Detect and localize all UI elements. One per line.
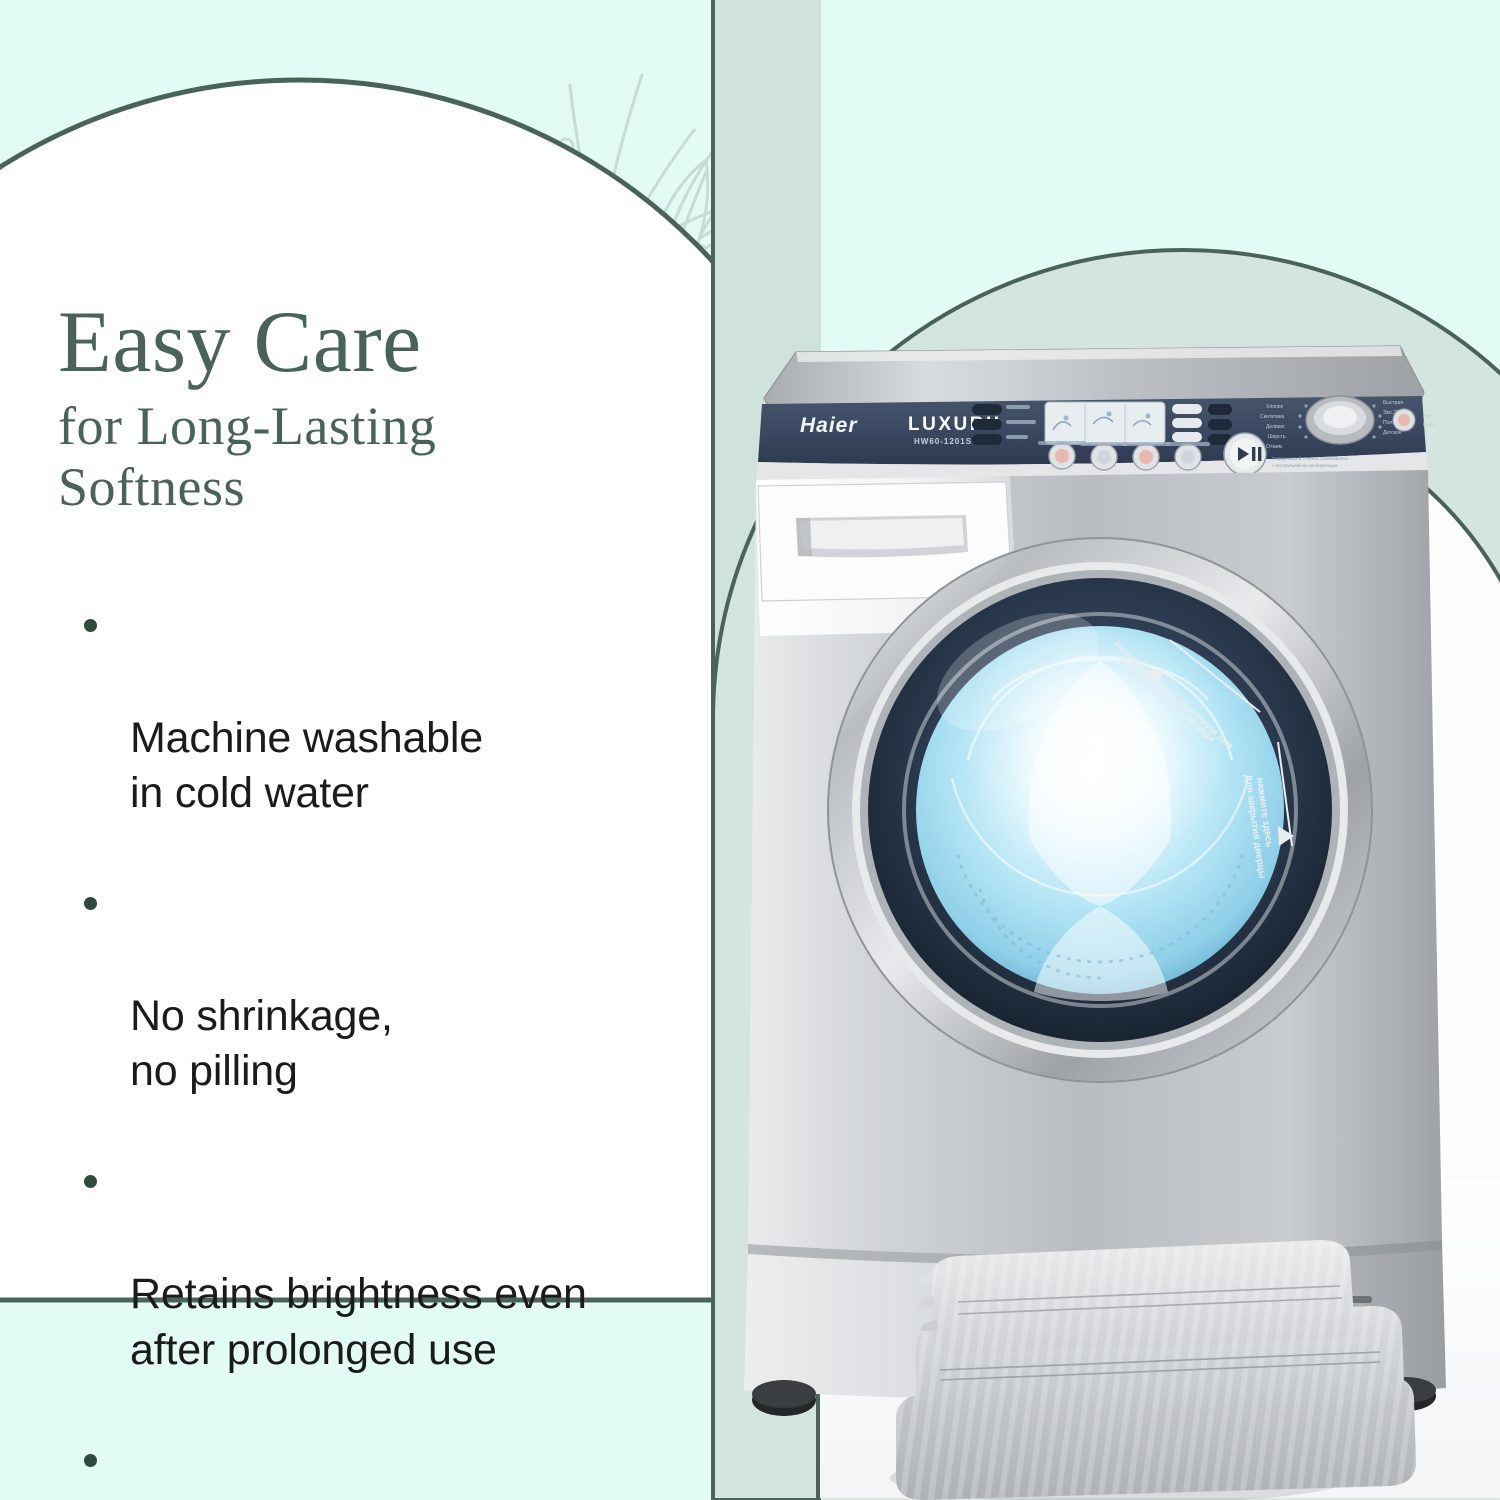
bullet-dot-icon	[84, 1454, 97, 1467]
lcd-display	[1045, 402, 1165, 444]
brand-logo: Haier	[800, 414, 858, 437]
bullet-dot-icon	[84, 897, 97, 910]
bullet-dot-icon	[84, 619, 97, 632]
power-label-2: Выкл	[1423, 422, 1435, 428]
headline-line-2: for Long-Lasting	[58, 396, 718, 456]
svg-text:Деликат: Деликат	[1266, 424, 1286, 430]
bullet-dot-icon	[84, 1175, 97, 1188]
washer-door[interactable]: Нажмите кнопку Старт/Пауза для разблокир…	[828, 538, 1372, 1082]
list-item: No shrinkage, no pilling	[58, 879, 718, 1099]
headline-line-3: Softness	[58, 457, 718, 517]
model-number-label: HW60-1201S	[914, 437, 972, 446]
bullet-text: Retains brightness even after prolonged …	[130, 1270, 587, 1373]
page-title: Easy Care for Long-Lasting Softness	[58, 300, 718, 517]
svg-text:Шерсть: Шерсть	[1268, 434, 1286, 440]
list-item: Get softer with every wash	[58, 1436, 718, 1500]
bullet-text: Machine washable in cold water	[130, 714, 483, 817]
washing-machine-illustration: Haier LUXURII HW60-1201S	[700, 0, 1500, 1500]
text-content-panel: Easy Care for Long-Lasting Softness Mach…	[58, 300, 718, 1500]
linen-top-stripes	[932, 1240, 1354, 1354]
svg-text:Отжим: Отжим	[1266, 444, 1282, 450]
svg-text:Быстрая: Быстрая	[1383, 400, 1403, 406]
svg-text:Хлопок: Хлопок	[1266, 404, 1284, 410]
bullet-text: No shrinkage, no pilling	[130, 992, 393, 1095]
power-button[interactable]	[1393, 409, 1415, 431]
headline-line-1: Easy Care	[58, 300, 718, 386]
list-item: Retains brightness even after prolonged …	[58, 1157, 718, 1377]
folded-bed-sheets	[890, 1240, 1416, 1500]
list-item: Machine washable in cold water	[58, 601, 718, 821]
program-dial[interactable]	[1306, 396, 1374, 444]
feature-bullet-list: Machine washable in cold water No shrink…	[58, 601, 718, 1500]
svg-text:Перед первой стиркой ознакомьт: Перед первой стиркой ознакомьтесь	[1272, 455, 1349, 461]
svg-text:с инструкцией по эксплуатации: с инструкцией по эксплуатации	[1272, 462, 1338, 468]
play-pause-icon[interactable]	[1224, 433, 1266, 475]
poster-canvas: Haier LUXURII HW60-1201S	[0, 0, 1500, 1500]
svg-text:Детское: Детское	[1383, 430, 1402, 436]
svg-text:Синтетика: Синтетика	[1260, 414, 1284, 420]
power-label: Вкл	[1423, 414, 1432, 420]
